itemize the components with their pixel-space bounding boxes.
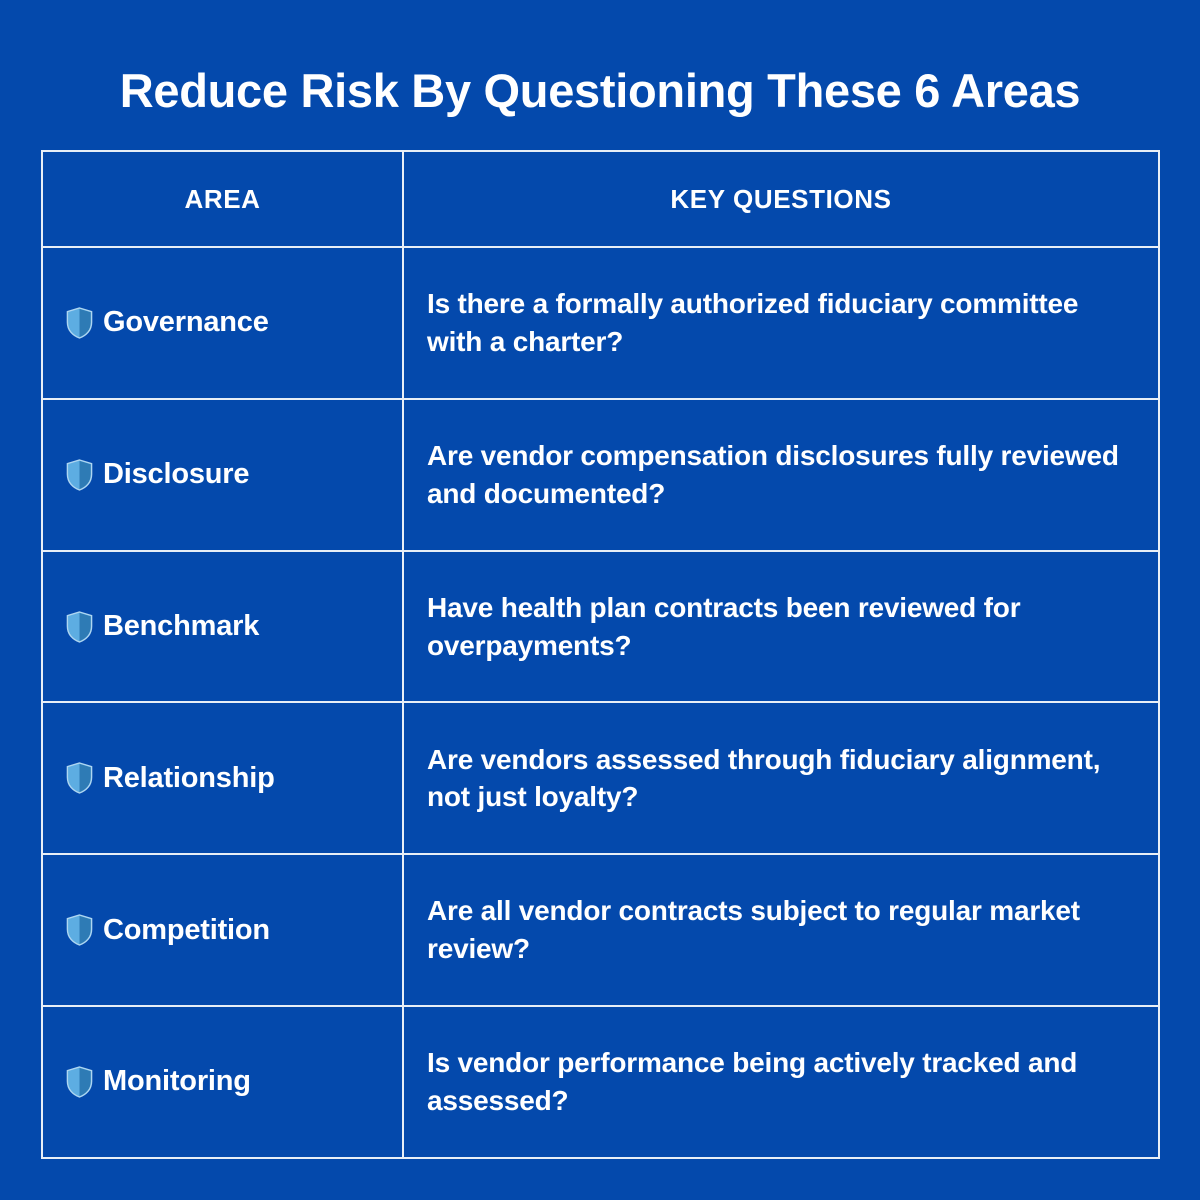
key-question-text: Is vendor performance being actively tra… — [404, 1044, 1158, 1120]
column-header-area: AREA — [184, 184, 260, 215]
shield-icon — [66, 762, 93, 794]
key-question-text: Are all vendor contracts subject to regu… — [404, 892, 1158, 968]
table-row: Benchmark Have health plan contracts bee… — [43, 552, 1158, 704]
shield-icon — [66, 307, 93, 339]
area-label: Competition — [103, 914, 270, 947]
infographic-page: Reduce Risk By Questioning These 6 Areas… — [0, 0, 1200, 1200]
key-question-text: Are vendor compensation disclosures full… — [404, 437, 1158, 513]
table-cell-area: Benchmark — [43, 552, 404, 702]
area-label: Monitoring — [103, 1065, 251, 1098]
table-cell-area: Relationship — [43, 703, 404, 853]
area-cell-content: Governance — [43, 306, 269, 339]
shield-icon — [66, 459, 93, 491]
shield-icon — [66, 914, 93, 946]
table-row: Monitoring Is vendor performance being a… — [43, 1007, 1158, 1157]
table-cell-key-question: Is there a formally authorized fiduciary… — [404, 248, 1158, 398]
table-row: Competition Are all vendor contracts sub… — [43, 855, 1158, 1007]
table-cell-area: Disclosure — [43, 400, 404, 550]
area-label: Governance — [103, 306, 269, 339]
key-question-text: Are vendors assessed through fiduciary a… — [404, 741, 1158, 817]
column-header-key-questions: KEY QUESTIONS — [670, 184, 891, 215]
key-question-text: Is there a formally authorized fiduciary… — [404, 285, 1158, 361]
key-question-text: Have health plan contracts been reviewed… — [404, 589, 1158, 665]
table-cell-area: Competition — [43, 855, 404, 1005]
area-cell-content: Disclosure — [43, 458, 249, 491]
table-cell-key-question: Are all vendor contracts subject to regu… — [404, 855, 1158, 1005]
table-cell-area: Monitoring — [43, 1007, 404, 1157]
table-cell-key-question: Have health plan contracts been reviewed… — [404, 552, 1158, 702]
area-cell-content: Monitoring — [43, 1065, 251, 1098]
table-row: Disclosure Are vendor compensation discl… — [43, 400, 1158, 552]
area-label: Relationship — [103, 762, 275, 795]
table-header-cell-key-questions: KEY QUESTIONS — [404, 152, 1158, 246]
area-cell-content: Competition — [43, 914, 270, 947]
table-cell-key-question: Are vendor compensation disclosures full… — [404, 400, 1158, 550]
area-cell-content: Benchmark — [43, 610, 259, 643]
shield-icon — [66, 1066, 93, 1098]
table-row: Governance Is there a formally authorize… — [43, 248, 1158, 400]
table-cell-key-question: Is vendor performance being actively tra… — [404, 1007, 1158, 1157]
page-title-container: Reduce Risk By Questioning These 6 Areas — [0, 34, 1200, 149]
table-header-cell-area: AREA — [43, 152, 404, 246]
table-header-row: AREA KEY QUESTIONS — [43, 152, 1158, 248]
risk-areas-table: AREA KEY QUESTIONS Governance — [41, 150, 1160, 1159]
table-cell-key-question: Are vendors assessed through fiduciary a… — [404, 703, 1158, 853]
table-cell-area: Governance — [43, 248, 404, 398]
shield-icon — [66, 611, 93, 643]
table-row: Relationship Are vendors assessed throug… — [43, 703, 1158, 855]
page-title: Reduce Risk By Questioning These 6 Areas — [120, 65, 1081, 117]
area-cell-content: Relationship — [43, 762, 275, 795]
area-label: Benchmark — [103, 610, 259, 643]
area-label: Disclosure — [103, 458, 249, 491]
